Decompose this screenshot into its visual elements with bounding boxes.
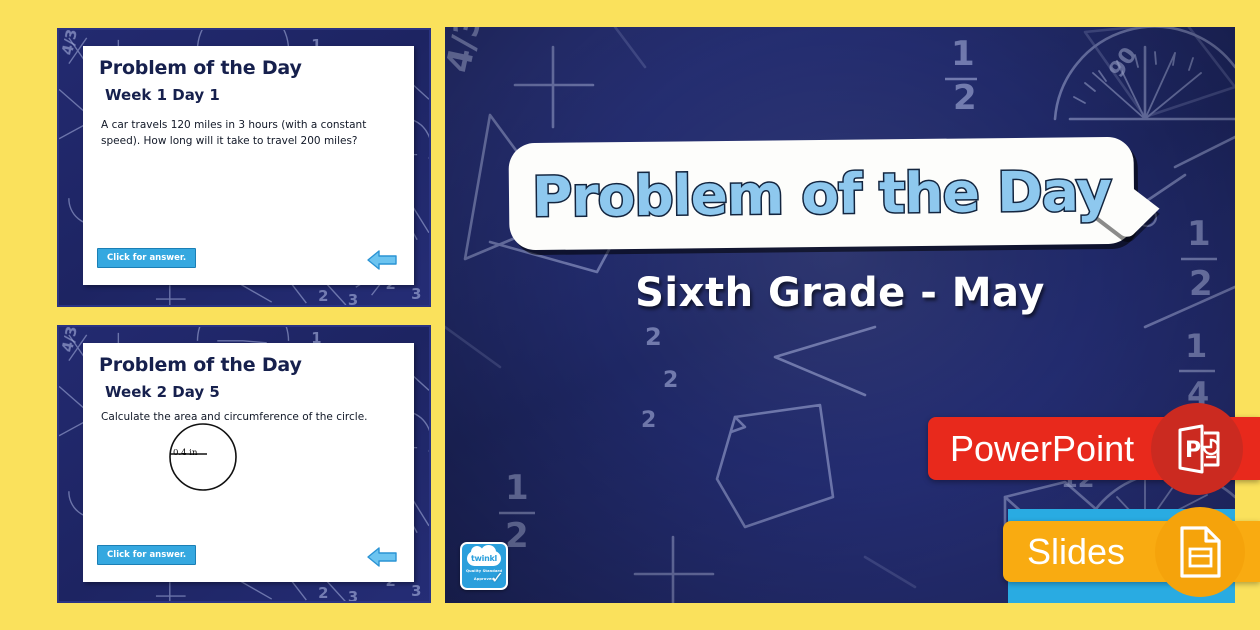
svg-text:3: 3 bbox=[411, 583, 421, 600]
slide-thumbnail-1[interactable]: 4/3 1 1 4 2 3 3 2 Problem of the Day Wee… bbox=[57, 28, 431, 307]
slide-body-text: A car travels 120 miles in 3 hours (with… bbox=[101, 118, 398, 148]
svg-text:2: 2 bbox=[641, 408, 656, 433]
back-arrow-icon[interactable] bbox=[366, 249, 398, 271]
svg-text:2: 2 bbox=[318, 288, 328, 305]
click-for-answer-button[interactable]: Click for answer. bbox=[97, 248, 196, 268]
google-slides-icon bbox=[1176, 525, 1224, 579]
svg-text:2: 2 bbox=[505, 516, 529, 556]
twinkl-wordmark: twinkl bbox=[471, 554, 497, 563]
title-banner: Problem of the Day bbox=[508, 137, 1134, 251]
svg-text:3: 3 bbox=[348, 292, 358, 306]
powerpoint-icon-circle: P bbox=[1151, 403, 1243, 495]
svg-text:3: 3 bbox=[411, 286, 421, 303]
main-preview-panel[interactable]: 4/3 1 2 1 2 1 4 1 2 90 2 2 2 12 12 90 Pr… bbox=[445, 27, 1235, 603]
slides-label: Slides bbox=[1027, 531, 1125, 573]
slide-title: Problem of the Day bbox=[99, 58, 398, 79]
twinkl-quality-badge: twinkl Quality Standard Approved ✓ bbox=[460, 542, 508, 590]
slide-week-day: Week 2 Day 5 bbox=[105, 383, 398, 401]
powerpoint-badge[interactable]: PowerPoint P bbox=[928, 417, 1260, 480]
svg-text:1: 1 bbox=[951, 34, 975, 74]
main-title: Problem of the Day bbox=[532, 158, 1112, 228]
powerpoint-icon: P bbox=[1171, 423, 1223, 475]
slide-content-2: Problem of the Day Week 2 Day 5 Calculat… bbox=[83, 343, 414, 582]
svg-text:P: P bbox=[1185, 438, 1201, 463]
slides-badge[interactable]: Slides bbox=[1003, 521, 1260, 582]
svg-text:2: 2 bbox=[663, 368, 678, 393]
svg-text:1: 1 bbox=[1187, 214, 1211, 254]
slide-title: Problem of the Day bbox=[99, 355, 398, 376]
slide-week-day: Week 1 Day 1 bbox=[105, 86, 398, 104]
powerpoint-label: PowerPoint bbox=[950, 428, 1134, 470]
circle-diagram: 0.4 in bbox=[167, 421, 239, 493]
back-arrow-icon[interactable] bbox=[366, 546, 398, 568]
svg-text:3: 3 bbox=[348, 589, 358, 603]
svg-text:2: 2 bbox=[953, 78, 977, 118]
slide-body-text: Calculate the area and circumference of … bbox=[101, 410, 398, 425]
slide-content-1: Problem of the Day Week 1 Day 1 A car tr… bbox=[83, 46, 414, 285]
radius-label: 0.4 in bbox=[173, 448, 197, 458]
svg-text:1: 1 bbox=[505, 468, 529, 508]
slides-icon-circle bbox=[1155, 507, 1245, 597]
svg-text:1: 1 bbox=[1185, 327, 1207, 365]
checkmark-icon: ✓ bbox=[491, 571, 504, 587]
twinkl-cloud-logo: twinkl bbox=[467, 551, 501, 566]
slide-thumbnail-list: 4/3 1 1 4 2 3 3 2 Problem of the Day Wee… bbox=[57, 28, 431, 603]
main-subtitle: Sixth Grade - May bbox=[445, 270, 1235, 316]
slide-thumbnail-2[interactable]: 4/3 1 1 4 2 3 3 2 Problem of the Day Wee… bbox=[57, 325, 431, 604]
click-for-answer-button[interactable]: Click for answer. bbox=[97, 545, 196, 565]
svg-text:2: 2 bbox=[318, 585, 328, 602]
svg-text:2: 2 bbox=[645, 323, 662, 351]
